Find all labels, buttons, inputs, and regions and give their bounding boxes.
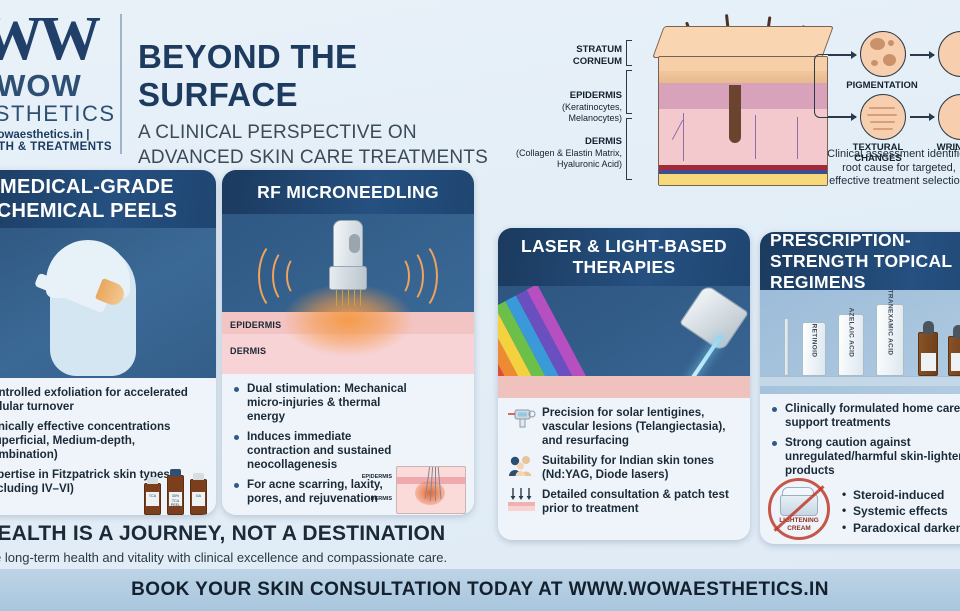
bottle-cap bbox=[147, 477, 158, 484]
layer-stratum-corneum bbox=[659, 71, 828, 83]
art-label-dermis: DERMIS bbox=[230, 346, 266, 356]
treatment-card-chemical-peels[interactable]: MEDICAL-GRADE CHEMICAL PEELS Controlled … bbox=[0, 170, 216, 515]
texture-line bbox=[869, 107, 895, 109]
handpiece-button bbox=[349, 234, 360, 253]
list-item: Clinically formulated home care support … bbox=[770, 402, 960, 430]
needle-icon bbox=[435, 466, 436, 501]
pigment-spot bbox=[888, 40, 894, 46]
cream-jar-lid bbox=[782, 487, 814, 496]
texture-line bbox=[873, 128, 893, 130]
card-body-laser-therapies: Precision for solar lentigines, vascular… bbox=[498, 398, 750, 528]
bottle-label: 35% TCA PEEL bbox=[169, 492, 182, 506]
needle-icon bbox=[354, 290, 355, 306]
bullet-list-topical-regimens: Clinically formulated home care support … bbox=[770, 402, 960, 478]
treatment-card-topical-regimens[interactable]: PRESCRIPTION-STRENGTH TOPICAL REGIMENS R… bbox=[760, 232, 960, 544]
closing-statement: HEALTH IS A JOURNEY, NOT A DESTINATION W… bbox=[0, 520, 960, 576]
cta-text: BOOK YOUR SKIN CONSULTATION TODAY AT WWW… bbox=[131, 579, 829, 601]
header-banner: WW WOW AESTHETICS wowaesthetics.in | HEA… bbox=[0, 0, 960, 168]
list-item: Strong caution against unregulated/harmf… bbox=[770, 436, 960, 478]
skin-cross-section-illustration bbox=[658, 26, 828, 186]
closing-title: HEALTH IS A JOURNEY, NOT A DESTINATION bbox=[0, 522, 502, 546]
product-label: RETINOID bbox=[811, 324, 818, 358]
card-title-laser-therapies: LASER & LIGHT-BASED THERAPIES bbox=[498, 228, 750, 286]
cta-banner[interactable]: BOOK YOUR SKIN CONSULTATION TODAY AT WWW… bbox=[0, 569, 960, 611]
skin-layer-label-epidermis: EPIDERMIS (Keratinocytes, Melanocytes) bbox=[518, 90, 622, 125]
needle-icon bbox=[348, 290, 349, 306]
pigment-spot bbox=[883, 54, 896, 66]
brace-stratum-corneum bbox=[626, 40, 632, 66]
handpiece-tip bbox=[329, 266, 367, 290]
layer-subcutaneous-fat bbox=[659, 174, 828, 186]
list-item-label: Suitability for Indian skin tones (Nd:YA… bbox=[542, 454, 714, 481]
skin-surface-plane bbox=[652, 26, 834, 58]
list-item: Dual stimulation: Mechanical micro-injur… bbox=[232, 382, 407, 424]
layer-epidermis bbox=[659, 83, 828, 109]
concern-node-textural-changes bbox=[860, 94, 906, 140]
skin-layer-label-stratum-corneum: STRATUM CORNEUM bbox=[530, 44, 622, 67]
layer-surface bbox=[659, 57, 828, 71]
microneedle-penetration-inset bbox=[396, 466, 466, 514]
bottle-icon: GA bbox=[190, 479, 207, 515]
dropper-cap bbox=[923, 321, 934, 334]
pigment-spot bbox=[870, 38, 885, 50]
pigment-spot bbox=[871, 60, 878, 66]
bottle-label: TCA bbox=[146, 492, 159, 506]
treatment-card-laser-therapies[interactable]: LASER & LIGHT-BASED THERAPIES bbox=[498, 228, 750, 540]
concern-node-wrinkles-2 bbox=[938, 94, 960, 140]
needle-icon bbox=[342, 290, 343, 306]
concern-label-pigmentation: PIGMENTATION bbox=[840, 80, 924, 91]
face-profile-illustration bbox=[42, 238, 146, 378]
peel-solution-bottles-illustration: TCA 35% TCA PEEL GA bbox=[144, 467, 210, 515]
card-illustration-rf-handpiece: EPIDERMIS DERMIS bbox=[222, 214, 474, 374]
skin-layer-label-dermis: DERMIS (Collagen & Elastin Matrix, Hyalu… bbox=[512, 136, 622, 171]
card-title-chemical-peels: MEDICAL-GRADE CHEMICAL PEELS bbox=[0, 170, 216, 228]
bottle-cap bbox=[193, 473, 204, 480]
illustration-skin-surface bbox=[498, 376, 750, 398]
serum-dropper-bottle-icon bbox=[918, 332, 938, 376]
brace-dermis bbox=[626, 118, 632, 180]
list-item: Controlled exfoliation for accelerated c… bbox=[0, 386, 206, 414]
title-block: BEYOND THE SURFACE A CLINICAL PERSPECTIV… bbox=[138, 38, 518, 170]
texture-line bbox=[867, 114, 897, 116]
header-divider bbox=[120, 14, 122, 154]
list-item-label: Detailed consultation & patch test prior… bbox=[542, 488, 729, 515]
flow-connector bbox=[814, 76, 834, 118]
flow-arrow bbox=[910, 54, 934, 56]
card-title-rf-microneedling: RF MICRONEEDLING bbox=[222, 170, 474, 214]
applicator-stick-icon bbox=[784, 318, 789, 376]
card-illustration-peel-application bbox=[0, 228, 216, 378]
needle-icon bbox=[360, 290, 361, 306]
flow-connector bbox=[814, 54, 834, 76]
layer-dermis bbox=[659, 109, 828, 165]
bottle-icon: TCA bbox=[144, 483, 161, 515]
serum-dropper-bottle-icon bbox=[948, 336, 960, 376]
card-body-chemical-peels: Controlled exfoliation for accelerated c… bbox=[0, 378, 216, 508]
product-tube-retinoid: RETINOID bbox=[802, 322, 826, 376]
card-title-topical-regimens: PRESCRIPTION-STRENGTH TOPICAL REGIMENS bbox=[760, 232, 960, 290]
product-shelf bbox=[760, 376, 960, 386]
concern-node-pigmentation bbox=[860, 31, 906, 77]
list-item: Precision for solar lentigines, vascular… bbox=[508, 406, 740, 448]
list-item: Clinically effective concentrations (Sup… bbox=[0, 420, 206, 462]
list-item: Systemic effects bbox=[842, 503, 960, 520]
brand-suffix: AESTHETICS bbox=[0, 102, 118, 126]
list-item: Suitability for Indian skin tones (Nd:YA… bbox=[508, 454, 740, 482]
flow-arrow bbox=[828, 54, 856, 56]
logo-monogram-icon: WW bbox=[0, 8, 118, 70]
brand-name: WOW bbox=[0, 70, 118, 102]
patch-test-icon bbox=[508, 488, 536, 514]
card-body-rf-microneedling: Dual stimulation: Mechanical micro-injur… bbox=[222, 374, 474, 515]
rf-wave-icon bbox=[258, 240, 300, 312]
rf-wave-icon bbox=[396, 240, 438, 312]
inset-label-epidermis: EPIDERMIS bbox=[362, 474, 392, 480]
blood-vessel-icon bbox=[755, 115, 756, 159]
list-item: Detailed consultation & patch test prior… bbox=[508, 488, 740, 516]
list-item-label: Precision for solar lentigines, vascular… bbox=[542, 406, 725, 447]
flow-arrow bbox=[910, 116, 934, 118]
brand-url: wowaesthetics.in | bbox=[0, 129, 118, 141]
product-tube-tranexamic-acid: TRANEXAMIC ACID bbox=[876, 304, 904, 376]
list-item: Induces immediate contraction and sustai… bbox=[232, 430, 407, 472]
laser-handpiece-icon bbox=[508, 406, 536, 432]
concern-node-wrinkles bbox=[938, 31, 960, 77]
skin-layer-stack bbox=[658, 56, 828, 186]
dropper-cap bbox=[953, 325, 960, 338]
page-subtitle: A CLINICAL PERSPECTIVE ON ADVANCED SKIN … bbox=[138, 120, 518, 170]
brand-tagline: HEALTH & TREATMENTS bbox=[0, 141, 118, 153]
list-item: Steroid-induced bbox=[842, 487, 960, 504]
bullet-list-laser-therapies: Precision for solar lentigines, vascular… bbox=[508, 406, 740, 516]
flow-arrow bbox=[828, 116, 856, 118]
blood-vessel-icon bbox=[672, 120, 684, 140]
dropper-label bbox=[951, 353, 960, 371]
page-title: BEYOND THE SURFACE bbox=[138, 38, 518, 114]
brace-epidermis bbox=[626, 70, 632, 114]
concern-flow-diagram: PIGMENTATION TEXTURAL CHANGES WRINKLES C… bbox=[832, 20, 960, 188]
skin-anatomy-diagram: STRATUM CORNEUM EPIDERMIS (Keratinocytes… bbox=[512, 12, 960, 188]
art-label-epidermis: EPIDERMIS bbox=[230, 320, 281, 330]
hair-follicle-icon bbox=[729, 85, 741, 143]
closing-subtitle: We long-term health and vitality with cl… bbox=[0, 550, 622, 565]
brand-logo[interactable]: WW WOW AESTHETICS wowaesthetics.in | HEA… bbox=[0, 8, 118, 160]
inset-label-dermis: DERMIS bbox=[371, 496, 392, 502]
card-illustration-topical-products: RETINOID AZELAIC ACID TRANEXAMIC ACID bbox=[760, 290, 960, 394]
product-label: AZELAIC ACID bbox=[848, 308, 855, 358]
treatment-card-rf-microneedling[interactable]: RF MICRONEEDLING EPIDERMIS DERMIS Dual s… bbox=[222, 170, 474, 515]
card-illustration-laser-spectrum bbox=[498, 286, 750, 398]
product-tube-azelaic-acid: AZELAIC ACID bbox=[838, 314, 864, 376]
product-label: TRANEXAMIC ACID bbox=[887, 290, 894, 355]
people-group-icon bbox=[508, 454, 536, 480]
bottle-icon: 35% TCA PEEL bbox=[167, 475, 184, 515]
bottle-label: GA bbox=[192, 492, 205, 506]
texture-line bbox=[870, 121, 895, 123]
clinical-assessment-note: Clinical assessment identifies root caus… bbox=[824, 148, 960, 189]
needle-icon bbox=[336, 290, 337, 306]
bullet-list-rf-microneedling: Dual stimulation: Mechanical micro-injur… bbox=[232, 382, 407, 506]
dropper-label bbox=[921, 353, 936, 371]
microneedling-handpiece-icon bbox=[327, 220, 369, 302]
blood-vessel-icon bbox=[797, 117, 798, 159]
bottle-cap bbox=[170, 469, 181, 476]
handpiece-body bbox=[333, 220, 363, 268]
